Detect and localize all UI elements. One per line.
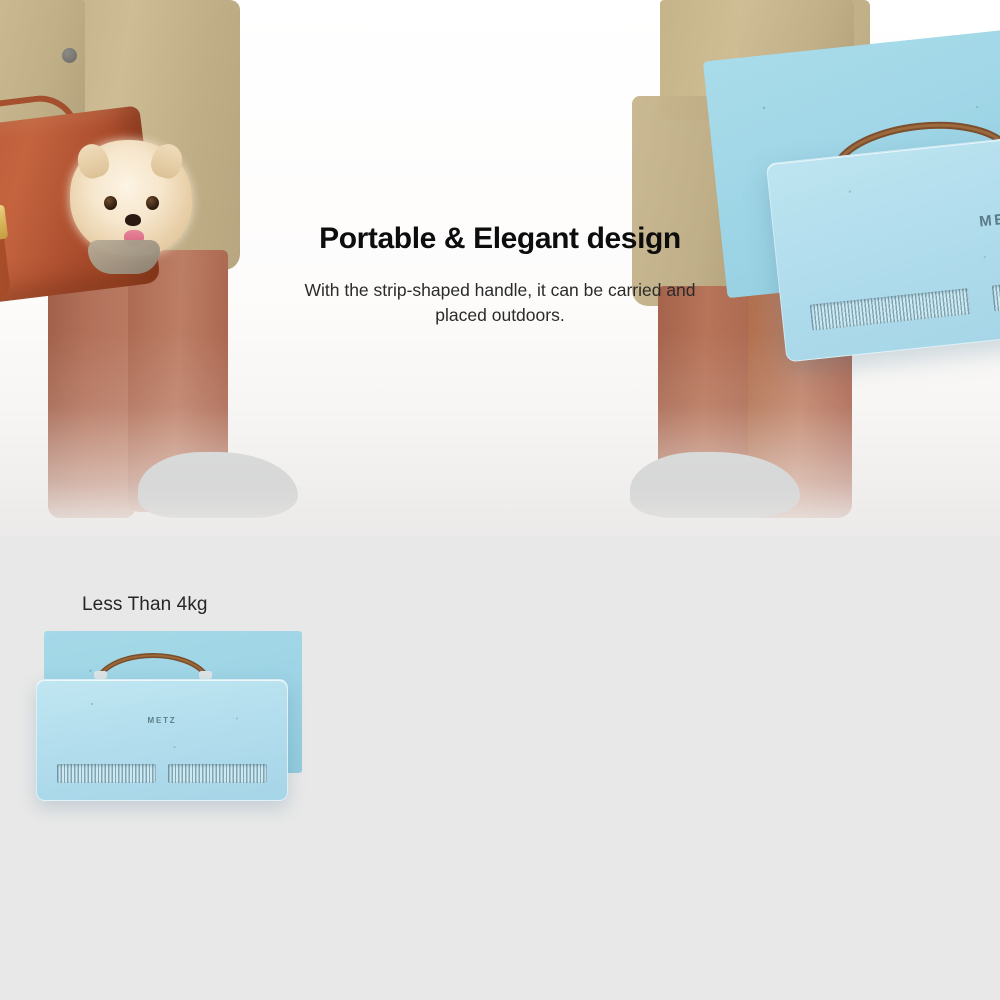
dog-eye-left-icon xyxy=(104,196,117,210)
coat-button-icon xyxy=(62,48,77,63)
weight-label: Less Than 4kg xyxy=(82,594,208,616)
product-marketing-page: METZ Portable & Elegant design With the … xyxy=(0,0,1000,1000)
metz-logo: METZ xyxy=(148,716,177,725)
backboard-front-panel-icon: METZ xyxy=(36,679,288,801)
product-backboard-figure: METZ xyxy=(36,631,306,821)
vent-right-icon xyxy=(168,764,267,783)
hero-title: Portable & Elegant design xyxy=(0,222,1000,256)
vent-left-icon xyxy=(57,764,156,783)
vent-grille-icon xyxy=(57,764,267,783)
hero-section: METZ Portable & Elegant design With the … xyxy=(0,0,1000,536)
features-section: Less Than 4kg METZ ≈ xyxy=(0,536,1000,1000)
hero-copy-block: Portable & Elegant design With the strip… xyxy=(0,222,1000,328)
hero-subtitle: With the strip-shaped handle, it can be … xyxy=(290,278,710,328)
shoe-icon xyxy=(138,452,298,518)
product-leather-handle-icon xyxy=(94,647,212,681)
dog-eye-right-icon xyxy=(146,196,159,210)
